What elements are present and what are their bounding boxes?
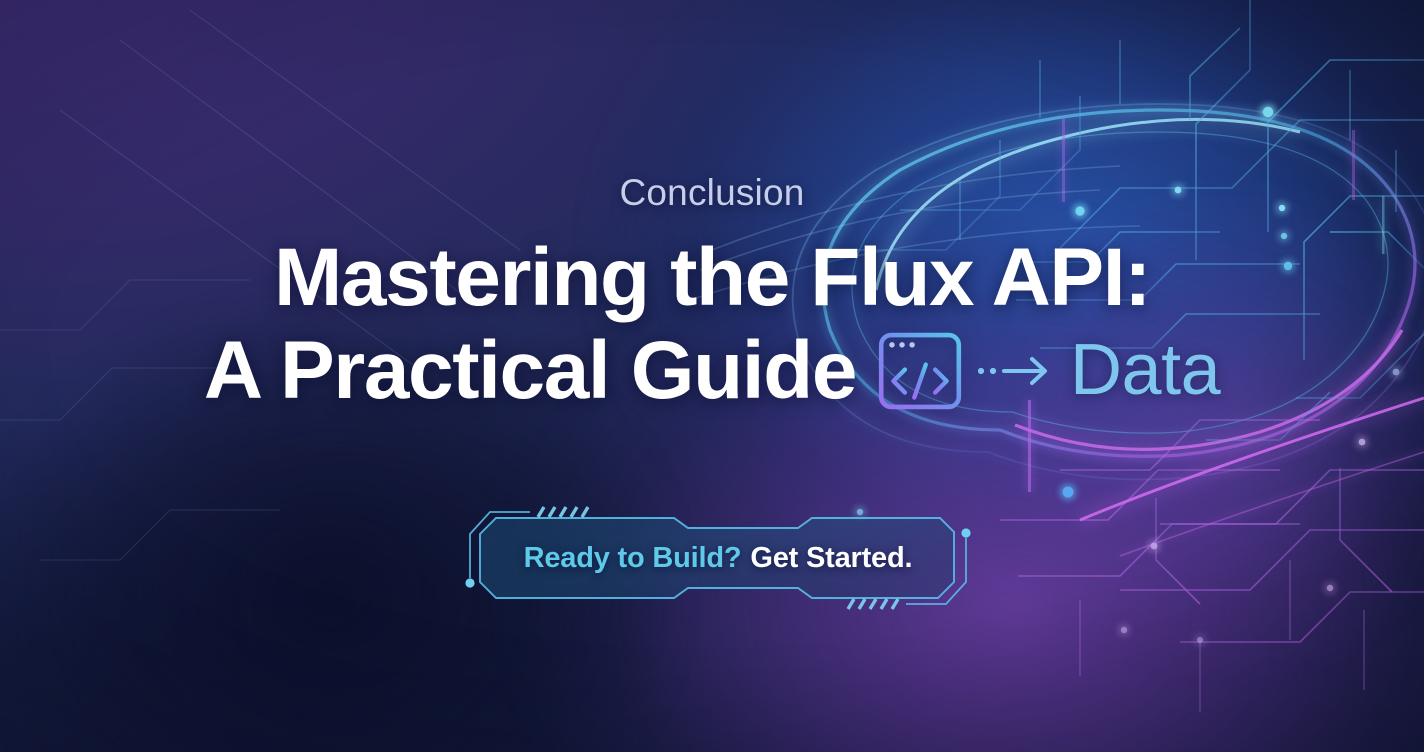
dashed-arrow-icon <box>976 354 1060 388</box>
cta-label-row: Ready to Build? Get Started. <box>462 496 974 620</box>
cta-banner[interactable]: Ready to Build? Get Started. <box>462 496 974 620</box>
title-line-2: A Practical Guide <box>204 325 874 418</box>
slide-canvas: Conclusion Mastering the Flux API: A Pra… <box>0 0 1424 752</box>
title-line-1: Mastering the Flux API: <box>204 232 1220 325</box>
page-title: Mastering the Flux API: A Practical Guid… <box>204 232 1220 417</box>
flow-target-label: Data <box>1066 330 1220 411</box>
title-line-2-row: A Practical Guide <box>204 325 1220 418</box>
eyebrow-label: Conclusion <box>619 172 804 214</box>
cta-accent-text: Ready to Build? <box>524 542 742 575</box>
slide-content: Conclusion Mastering the Flux API: A Pra… <box>0 0 1424 752</box>
cta-plain-text: Get Started. <box>750 542 912 575</box>
code-window-icon <box>874 325 966 417</box>
